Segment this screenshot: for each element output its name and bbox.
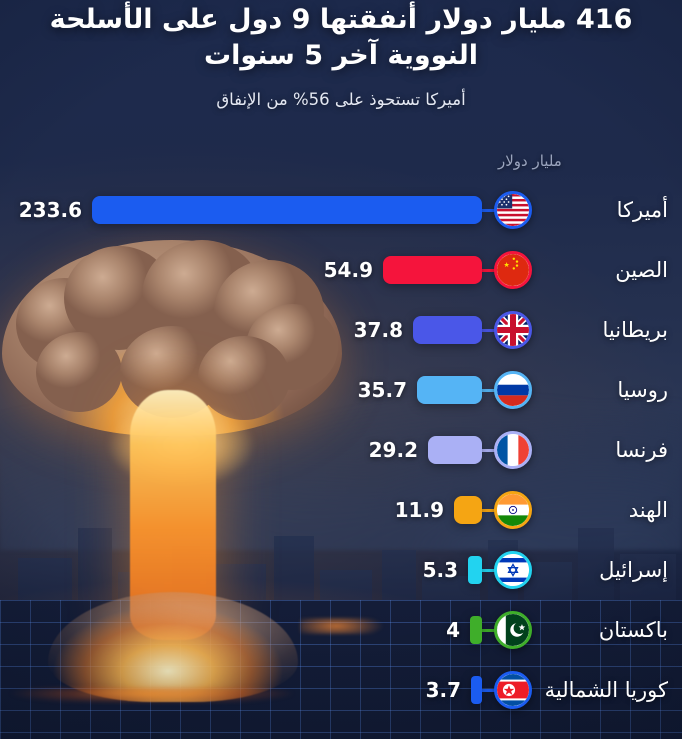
value-label: 3.7	[426, 678, 461, 702]
value-label: 4	[446, 618, 460, 642]
flag-us-image	[497, 194, 529, 226]
bar-row: بريطانيا 37.8	[0, 308, 682, 352]
unit-label: مليار دولار	[0, 152, 682, 170]
value-label: 35.7	[358, 378, 407, 402]
flag-pk-image	[497, 614, 529, 646]
value-bar	[454, 496, 482, 524]
value-label: 5.3	[423, 558, 458, 582]
bar-row: فرنسا 29.2	[0, 428, 682, 472]
infographic-root: 416 مليار دولار أنفقتها 9 دول على الأسلح…	[0, 0, 682, 739]
country-label: روسيا	[532, 378, 682, 402]
country-label: إسرائيل	[532, 558, 682, 582]
page-subtitle: أميركا تستحوذ على 56% من الإنفاق	[24, 89, 658, 110]
bar-row: إسرائيل 5.3	[0, 548, 682, 592]
bar-row: أميركا 233.6	[0, 188, 682, 232]
flag-cn-icon	[494, 251, 532, 289]
flag-ru-icon	[494, 371, 532, 409]
flag-kp-icon	[494, 671, 532, 709]
flag-fr-image	[497, 434, 529, 466]
country-label: فرنسا	[532, 438, 682, 462]
value-bar	[468, 556, 482, 584]
value-bar	[470, 616, 482, 644]
value-bar	[413, 316, 482, 344]
flag-pk-icon	[494, 611, 532, 649]
header: 416 مليار دولار أنفقتها 9 دول على الأسلح…	[0, 0, 682, 111]
value-label: 54.9	[324, 258, 373, 282]
page-title: 416 مليار دولار أنفقتها 9 دول على الأسلح…	[24, 0, 658, 73]
value-bar	[428, 436, 482, 464]
country-label: الصين	[532, 258, 682, 282]
country-label: أميركا	[532, 198, 682, 222]
value-label: 233.6	[19, 198, 82, 222]
flag-il-image	[497, 554, 529, 586]
country-label: الهند	[532, 498, 682, 522]
bar-row: الصين 54.9	[0, 248, 682, 292]
country-label: بريطانيا	[532, 318, 682, 342]
bar-row: كوريا الشمالية 3.7	[0, 668, 682, 712]
flag-fr-icon	[494, 431, 532, 469]
flag-cn-image	[497, 254, 529, 286]
bar-row: روسيا 35.7	[0, 368, 682, 412]
value-bar	[92, 196, 482, 224]
flag-gb-icon	[494, 311, 532, 349]
value-bar	[417, 376, 482, 404]
flag-il-icon	[494, 551, 532, 589]
flag-in-icon	[494, 491, 532, 529]
flag-kp-image	[497, 674, 529, 706]
value-label: 29.2	[369, 438, 418, 462]
country-label: باكستان	[532, 618, 682, 642]
bar-row: الهند 11.9	[0, 488, 682, 532]
flag-in-image	[497, 494, 529, 526]
country-label: كوريا الشمالية	[532, 678, 682, 702]
flag-ru-image	[497, 374, 529, 406]
flag-us-icon	[494, 191, 532, 229]
value-bar	[471, 676, 482, 704]
value-label: 37.8	[354, 318, 403, 342]
flag-gb-image	[497, 314, 529, 346]
value-label: 11.9	[395, 498, 444, 522]
bar-row: باكستان 4	[0, 608, 682, 652]
value-bar	[383, 256, 482, 284]
